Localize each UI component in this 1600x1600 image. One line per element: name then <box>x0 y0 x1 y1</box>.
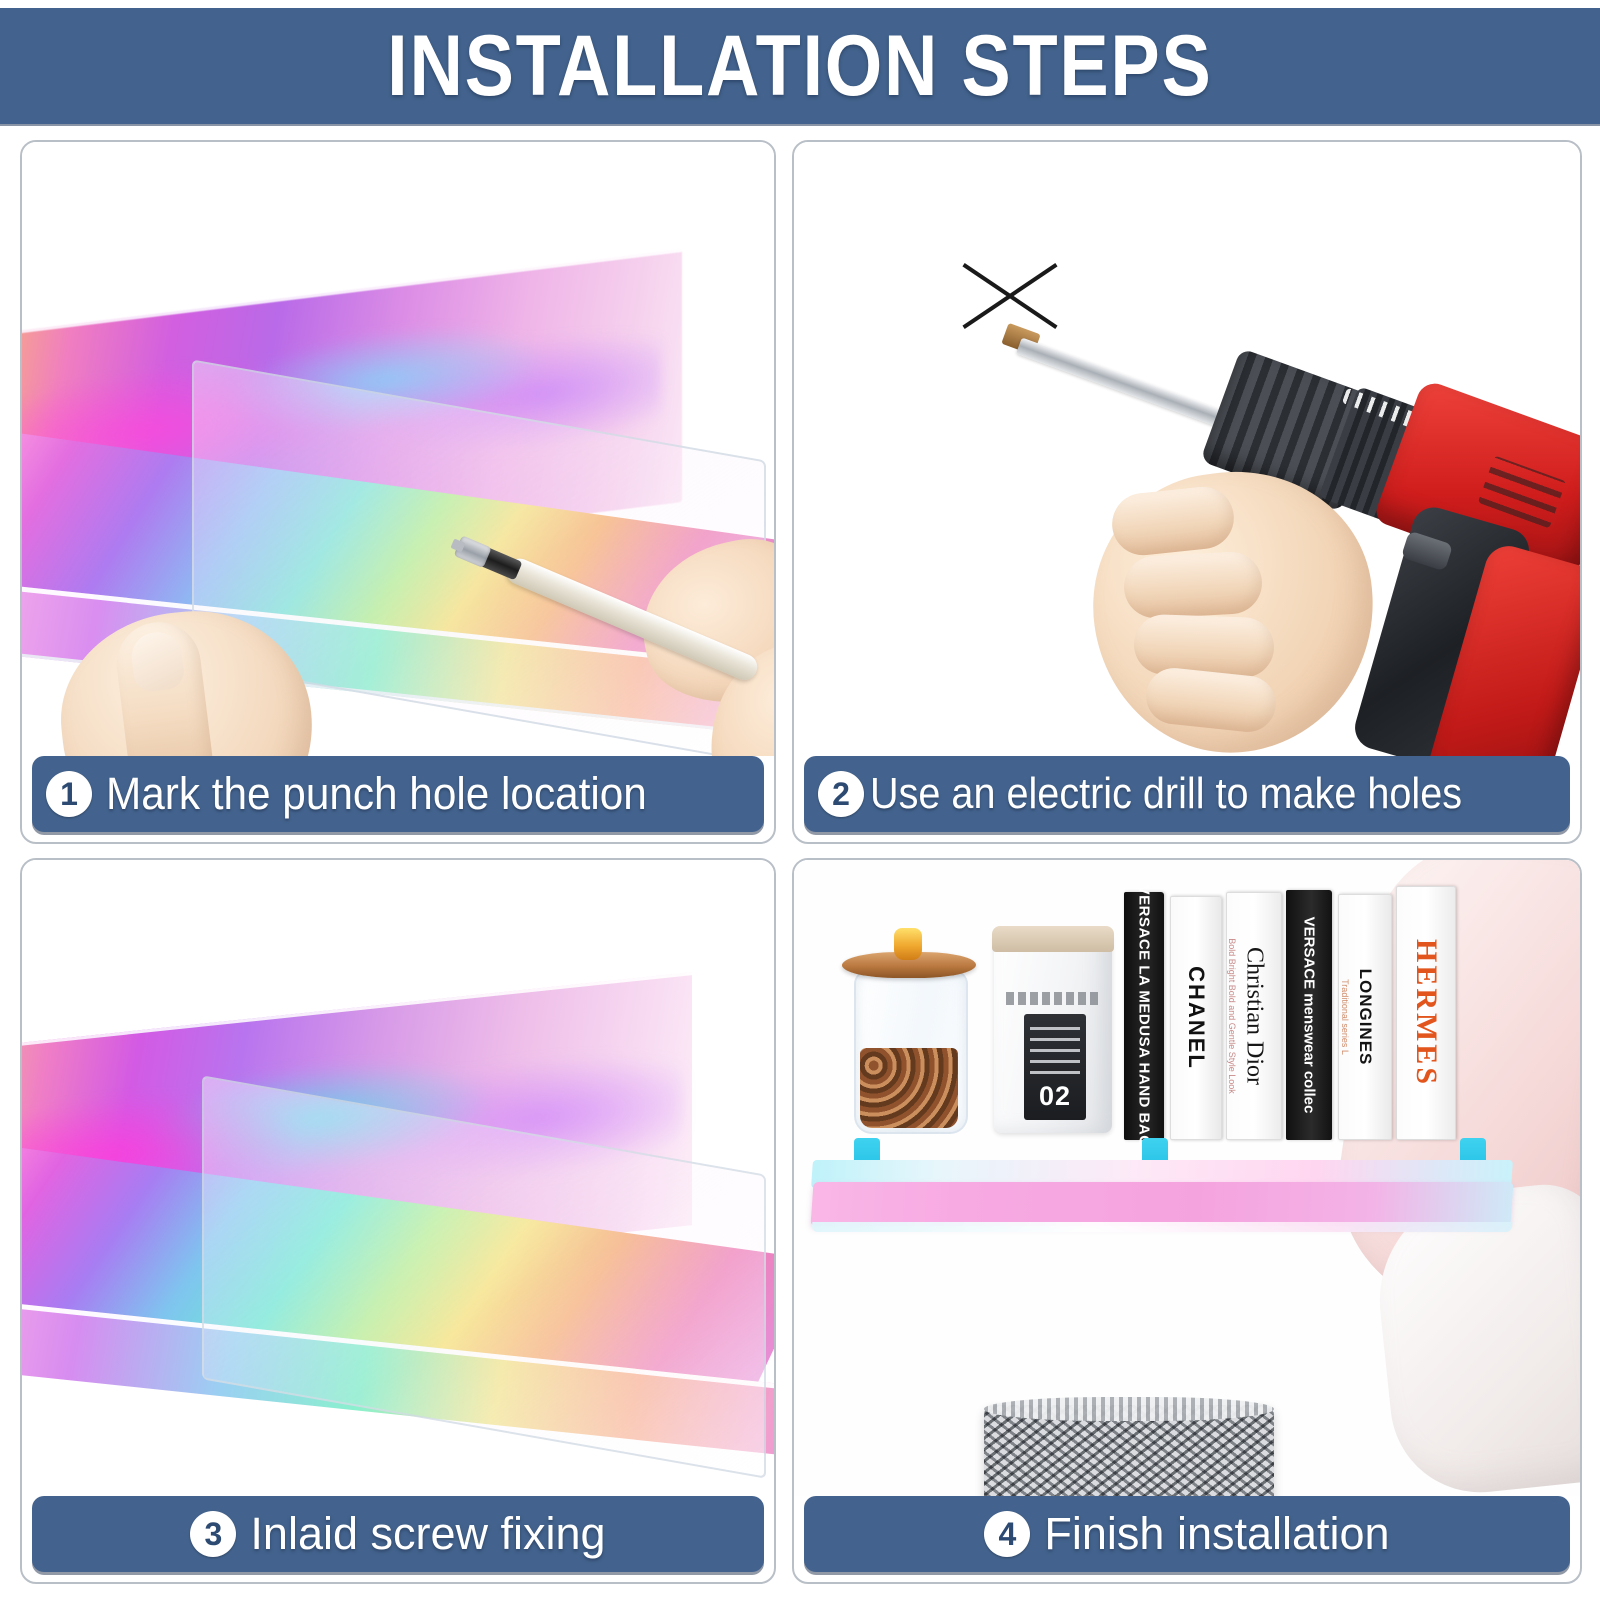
step-4-image: 02 VERSACE LA MEDUSA HAND BAG CHANEL Chr… <box>794 860 1580 1496</box>
finger-2 <box>1122 550 1263 619</box>
book-hermes: HERMES <box>1396 886 1456 1140</box>
book-longines: LONGINES Traditional series L <box>1338 894 1392 1140</box>
step-2-caption-text: Use an electric drill to make holes <box>870 769 1462 819</box>
step-panel-4: 02 VERSACE LA MEDUSA HAND BAG CHANEL Chr… <box>792 858 1582 1584</box>
step-2-image <box>794 142 1580 756</box>
iridescent-shelf-3 <box>22 1010 774 1440</box>
step-panel-2: 2 Use an electric drill to make holes <box>792 140 1582 844</box>
drill-bit <box>1016 338 1229 429</box>
candle-canister: 02 <box>994 928 1112 1133</box>
step-2-caption-bar: 2 Use an electric drill to make holes <box>804 756 1570 832</box>
mounted-shelf <box>812 1160 1512 1244</box>
book-spine-subtitle: Bold Bright Bold and Gentle Style Look <box>1227 938 1237 1094</box>
book-versace-handbag: VERSACE LA MEDUSA HAND BAG <box>1124 892 1164 1140</box>
step-1-caption-text: Mark the punch hole location <box>106 768 647 820</box>
book-spine-title: Christian Dior <box>1241 947 1268 1085</box>
step-number-4: 4 <box>984 1511 1030 1557</box>
canister-label: 02 <box>1024 1014 1086 1120</box>
installation-steps-infographic: INSTALLATION STEPS <box>0 0 1600 1600</box>
jar-contents-beans <box>860 1048 958 1128</box>
step-1-image <box>22 142 774 756</box>
book-spine-title: LONGINES <box>1355 969 1375 1066</box>
shelf-lip <box>810 1182 1513 1226</box>
book-spine-title: HERMES <box>1409 939 1443 1087</box>
book-spine-title: VERSACE LA MEDUSA HAND BAG <box>1136 885 1153 1148</box>
step-4-caption-text: Finish installation <box>1044 1508 1389 1560</box>
canister-number: 02 <box>1024 1081 1086 1112</box>
canister-lid <box>992 926 1114 952</box>
metallic-mesh-stool <box>984 1405 1274 1496</box>
book-spine-subtitle: Traditional series L <box>1340 979 1350 1055</box>
step-1-caption-bar: 1 Mark the punch hole location <box>32 756 764 832</box>
step-4-caption-bar: 4 Finish installation <box>804 1496 1570 1572</box>
step-panel-1: 1 Mark the punch hole location <box>20 140 776 844</box>
shelf-bottom-edge <box>812 1222 1513 1232</box>
book-spine-title: VERSACE menswear collec <box>1301 917 1318 1114</box>
jar-lid-knob <box>894 928 922 960</box>
book-christian-dior: Christian Dior Bold Bright Bold and Gent… <box>1226 892 1282 1140</box>
finger-3 <box>1133 614 1275 679</box>
book-versace-menswear: VERSACE menswear collec <box>1286 890 1332 1140</box>
steps-grid: 1 Mark the punch hole location <box>20 140 1580 1590</box>
decorative-books: VERSACE LA MEDUSA HAND BAG CHANEL Christ… <box>1124 888 1496 1140</box>
book-spine-title: CHANEL <box>1183 966 1209 1070</box>
step-3-image <box>22 860 774 1496</box>
step-panel-3: 3 Inlaid screw fixing <box>20 858 776 1584</box>
glass-bean-jar <box>854 970 968 1134</box>
step-3-caption-bar: 3 Inlaid screw fixing <box>32 1496 764 1572</box>
step-number-2: 2 <box>818 771 864 817</box>
canister-tagline <box>1006 992 1102 1005</box>
canister-label-lines <box>1030 1022 1080 1074</box>
page-title: INSTALLATION STEPS <box>387 17 1212 116</box>
step-3-caption-text: Inlaid screw fixing <box>250 1508 605 1560</box>
header-banner: INSTALLATION STEPS <box>0 8 1600 124</box>
mesh-stool-top <box>984 1397 1274 1421</box>
fingernail <box>129 630 186 694</box>
book-chanel: CHANEL <box>1170 896 1222 1140</box>
step-number-1: 1 <box>46 771 92 817</box>
step-number-3: 3 <box>190 1511 236 1557</box>
